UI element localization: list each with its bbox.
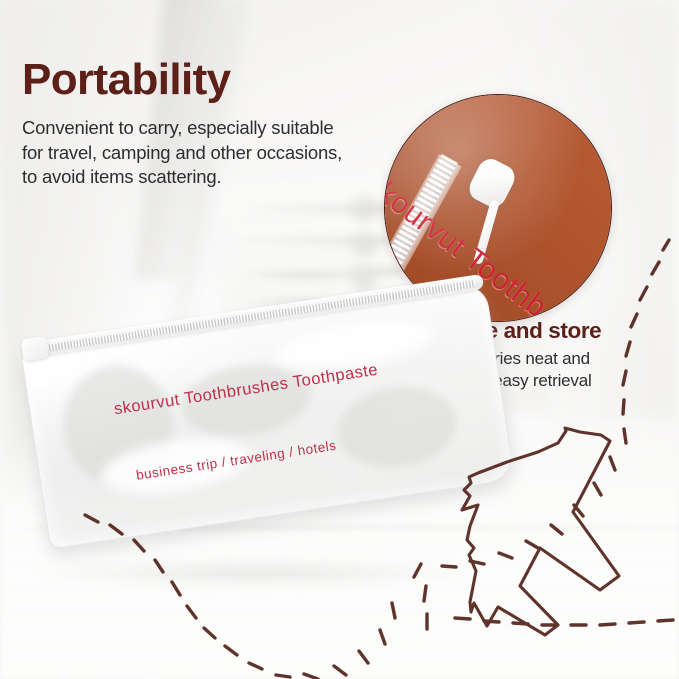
background-shelf-line: [240, 272, 370, 278]
pouch-zipper-tab: [21, 336, 50, 362]
background-knob: [352, 196, 376, 220]
feature-description-line: to avoid items scattering.: [22, 165, 372, 190]
feature-description-line: for travel, camping and other occasions,: [22, 141, 372, 166]
marketing-image: Portability Convenient to carry, especia…: [0, 0, 679, 679]
product-pouch: skourvut Toothbrushes Toothpaste busines…: [18, 264, 530, 583]
feature-description-line: Convenient to carry, especially suitable: [22, 116, 372, 141]
page-title: Portability: [22, 58, 231, 102]
pouch-crease: [332, 379, 463, 476]
background-knob: [352, 232, 376, 256]
feature-description: Convenient to carry, especially suitable…: [22, 116, 372, 190]
pouch-body: [20, 282, 515, 550]
